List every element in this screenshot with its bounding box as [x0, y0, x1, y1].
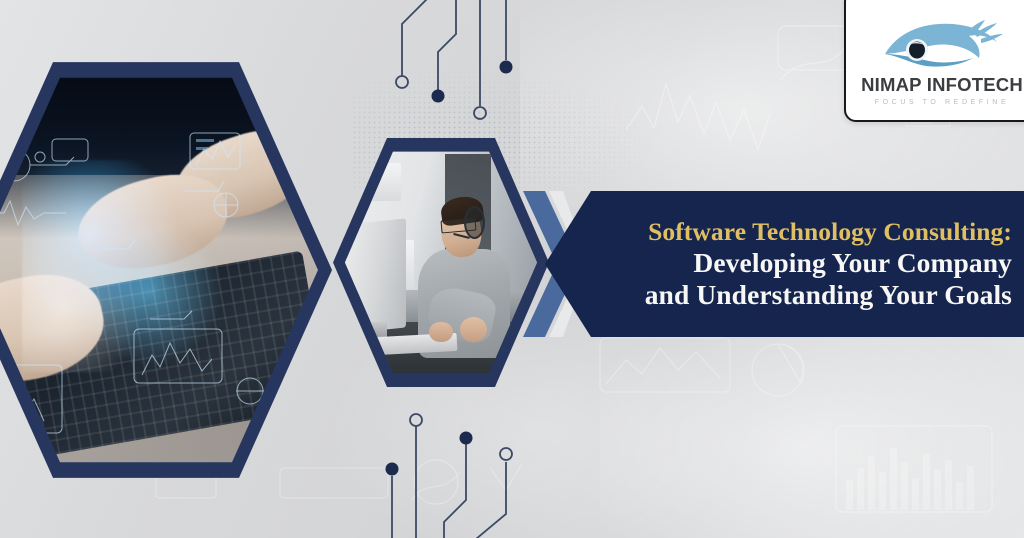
photo-person-hand [429, 322, 452, 342]
headline-line-2: Developing Your Company [645, 247, 1012, 279]
logo-tagline: FOCUS TO REDEFINE [875, 99, 1009, 106]
photo-person-hand [460, 317, 487, 342]
headline-banner: Software Technology Consulting: Developi… [545, 191, 1024, 337]
logo-company-name: NIMAP INFOTECH [861, 76, 1023, 95]
nimap-eye-logo-icon [881, 20, 1003, 72]
headline-text: Software Technology Consulting: Developi… [645, 217, 1012, 310]
banner-canvas: Software Technology Consulting: Developi… [0, 0, 1024, 538]
headline-line-1: Software Technology Consulting: [645, 217, 1012, 247]
logo-card[interactable]: NIMAP INFOTECH FOCUS TO REDEFINE [844, 0, 1024, 122]
headline-line-3: and Understanding Your Goals [645, 279, 1012, 311]
